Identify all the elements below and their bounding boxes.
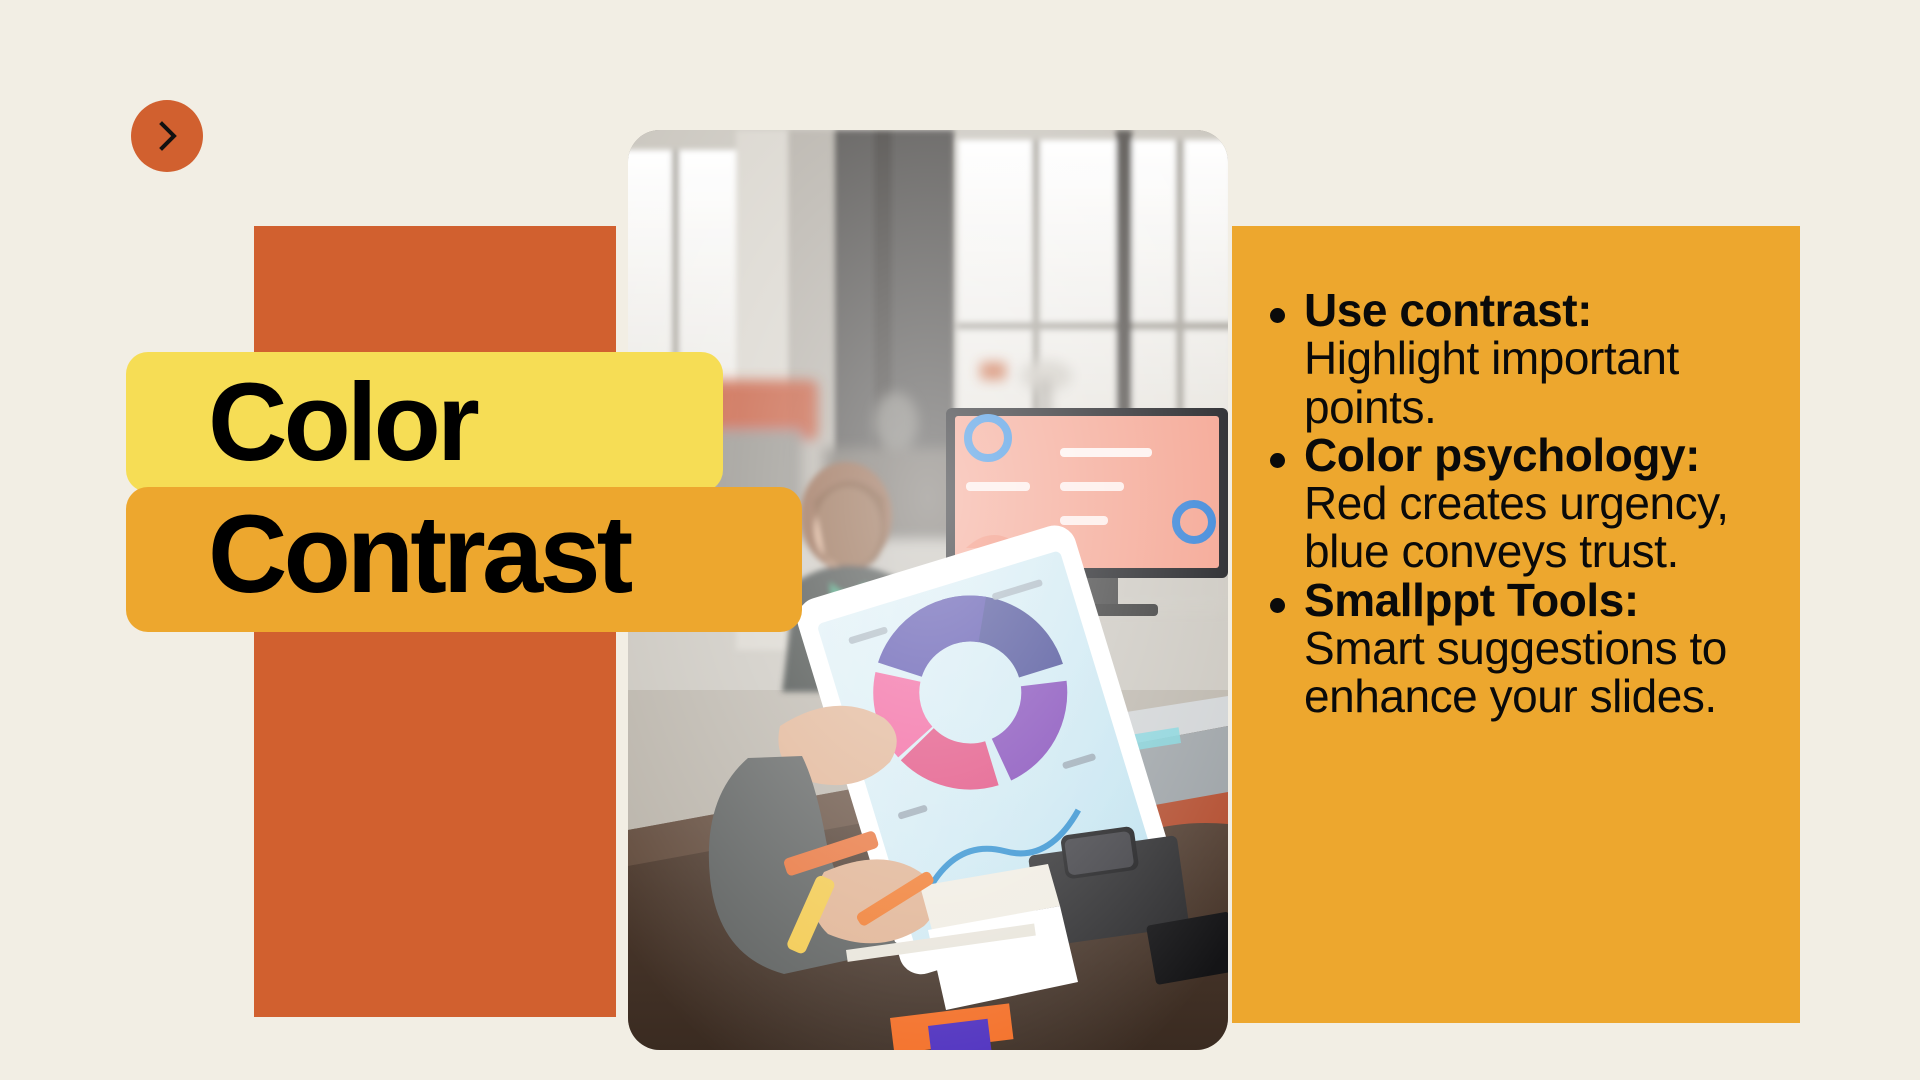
key-points-list: Use contrast: Highlight important points… (1262, 286, 1760, 721)
page-title-line-2: Contrast (208, 500, 629, 610)
bullet-rest: Red creates urgency, blue conveys trust. (1304, 477, 1729, 577)
bullet-lead: Smallppt Tools: (1304, 574, 1639, 626)
bullet-lead: Color psychology: (1304, 429, 1700, 481)
slide-canvas: Use contrast: Highlight important points… (0, 0, 1920, 1080)
bullet-lead: Use contrast: (1304, 284, 1592, 336)
list-item: Color psychology: Red creates urgency, b… (1262, 431, 1760, 576)
list-item: Use contrast: Highlight important points… (1262, 286, 1760, 431)
page-title-line-1: Color (208, 368, 476, 478)
key-points-panel: Use contrast: Highlight important points… (1232, 226, 1800, 1023)
chevron-right-icon (150, 119, 184, 153)
bullet-rest: Smart suggestions to enhance your slides… (1304, 622, 1727, 722)
next-arrow-button[interactable] (131, 100, 203, 172)
list-item: Smallppt Tools: Smart suggestions to enh… (1262, 576, 1760, 721)
bullet-rest: Highlight important points. (1304, 332, 1679, 432)
